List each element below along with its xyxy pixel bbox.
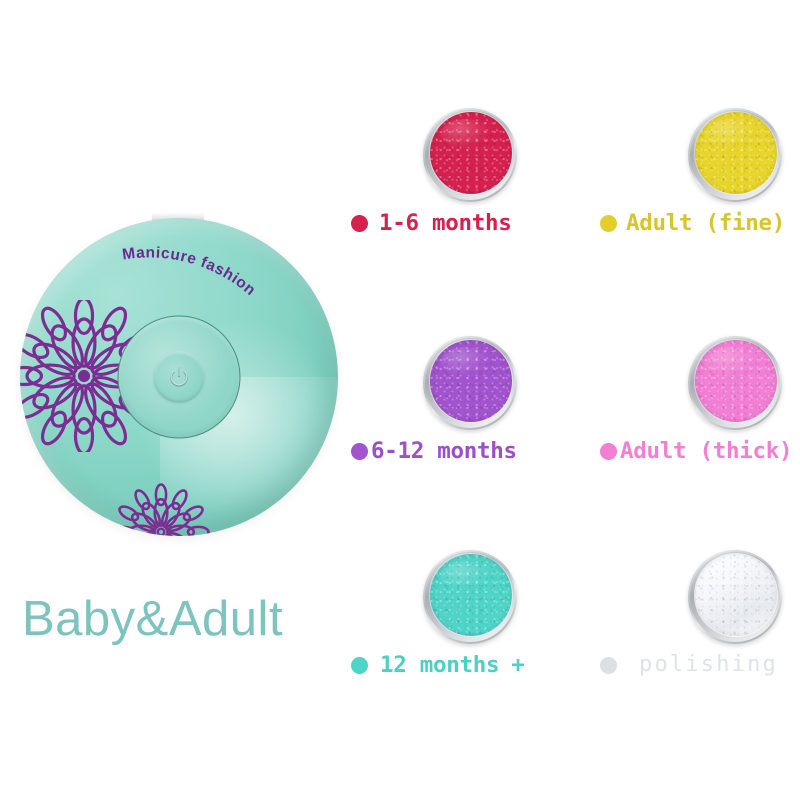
disc-abrasive-face xyxy=(430,340,512,422)
disc-label: 12 months xyxy=(380,654,499,677)
nail-trimmer-device: Manicure fashion xyxy=(0,190,350,550)
disc-label-suffix: + xyxy=(511,654,525,677)
disc-caption: 12 months + xyxy=(351,654,525,677)
bullet-dot-icon xyxy=(600,215,617,232)
bullet-dot-icon xyxy=(351,443,368,460)
disc-label: polishing xyxy=(639,654,778,676)
disc-cell[interactable]: 6-12 months xyxy=(345,328,573,508)
disc-label: 1-6 months xyxy=(379,212,511,235)
sanding-disc[interactable] xyxy=(423,108,517,202)
sanding-disc[interactable] xyxy=(423,336,517,430)
disc-caption: 6-12 months xyxy=(351,440,517,463)
disc-caption: Adult (thick) xyxy=(600,440,792,463)
device-brand-label: Manicure fashion xyxy=(121,244,259,299)
disc-abrasive-face xyxy=(430,112,512,194)
disc-cell[interactable]: polishing xyxy=(600,542,800,722)
disc-caption: polishing xyxy=(600,654,778,676)
disc-abrasive-face xyxy=(695,112,777,194)
sanding-disc[interactable] xyxy=(423,550,517,644)
disc-row: 6-12 months Adult (thick) xyxy=(345,328,800,508)
flower-pattern-small-icon xyxy=(112,483,210,536)
disc-label: 6-12 months xyxy=(371,440,517,463)
device-body: Manicure fashion xyxy=(20,218,338,536)
disc-cell[interactable]: 12 months + xyxy=(345,542,573,722)
disc-label: Adult (fine) xyxy=(626,212,785,235)
polishing-disc[interactable] xyxy=(688,550,782,644)
sanding-disc[interactable] xyxy=(688,336,782,430)
disc-abrasive-face xyxy=(430,554,512,636)
power-icon xyxy=(166,364,192,390)
power-button[interactable] xyxy=(153,351,205,403)
product-wordmark: Baby&Adult xyxy=(22,595,283,644)
sanding-disc[interactable] xyxy=(688,108,782,202)
bullet-dot-icon xyxy=(351,215,368,232)
bullet-dot-icon xyxy=(600,657,617,674)
disc-row: 12 months + polishing xyxy=(345,542,800,722)
disc-cell[interactable]: Adult (fine) xyxy=(600,100,800,280)
sanding-disc-grid: 1-6 months Adult (fine) xyxy=(345,100,800,710)
product-image-canvas: Manicure fashion Baby&Adult 1-6 months xyxy=(0,0,800,800)
disc-polishing-face xyxy=(695,554,777,636)
disc-caption: 1-6 months xyxy=(351,212,511,235)
disc-cell[interactable]: Adult (thick) xyxy=(600,328,800,508)
disc-row: 1-6 months Adult (fine) xyxy=(345,100,800,280)
disc-cell[interactable]: 1-6 months xyxy=(345,100,573,280)
bullet-dot-icon xyxy=(351,657,368,674)
bullet-dot-icon xyxy=(600,443,617,460)
disc-caption: Adult (fine) xyxy=(600,212,785,235)
disc-label: Adult (thick) xyxy=(620,440,792,463)
disc-abrasive-face xyxy=(695,340,777,422)
svg-text:Manicure fashion: Manicure fashion xyxy=(121,244,259,299)
